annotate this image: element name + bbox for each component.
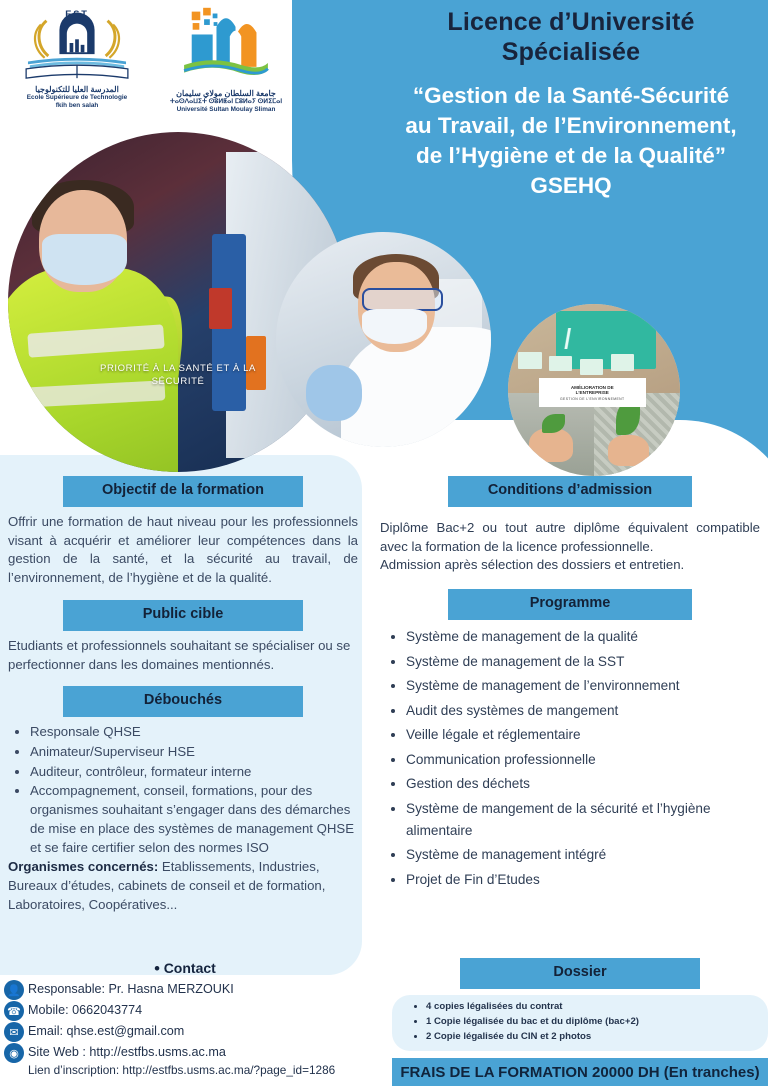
program-title-line-2: au Travail, de l’Environnement,: [378, 111, 764, 141]
list-item: Accompagnement, conseil, formations, pou…: [30, 782, 358, 857]
organismes-label: Organismes concernés:: [8, 859, 158, 874]
dossier-block: Dossier 4 copies légalisées du contrat 1…: [392, 958, 768, 1086]
contact-site-web[interactable]: Site Web : http://estfbs.usms.ac.ma: [28, 1043, 335, 1061]
section-heading-conditions: Conditions d’admission: [448, 476, 692, 507]
list-item: Audit des systèmes de mangement: [406, 700, 762, 722]
contact-block: • Contact 👤 Responsable: Pr. Hasna MERZO…: [0, 960, 370, 1079]
header-line-1: Licence d’Université: [378, 8, 764, 38]
env-card-subtitle: GESTION DE L’ENVIRONNEMENT: [560, 397, 624, 401]
list-item: Système de management de la qualité: [406, 626, 762, 648]
photo-environment: AMÉLIORATION DE L’ENTREPRISE GESTION DE …: [508, 304, 680, 476]
contact-registration-link[interactable]: Lien d’inscription: http://estfbs.usms.a…: [28, 1061, 335, 1078]
contact-row-responsable: 👤 Responsable: Pr. Hasna MERZOUKI: [0, 980, 370, 1000]
programme-list: Système de management de la qualité Syst…: [372, 626, 768, 891]
poster-header: Licence d’Université Spécialisée “Gestio…: [378, 8, 764, 201]
list-item: Responsale QHSE: [30, 723, 358, 742]
program-title-line-1: “Gestion de la Santé-Sécurité: [378, 81, 764, 111]
envelope-icon: ✉: [4, 1022, 24, 1042]
est-logo-arabic: المدرسة العليا للتكنولوجيا: [14, 85, 140, 94]
contact-row-email[interactable]: ✉ Email: qhse.est@gmail.com: [0, 1022, 370, 1042]
program-title-line-3: de l’Hygiène et de la Qualité”: [378, 141, 764, 171]
dossier-list: 4 copies légalisées du contrat 1 Copie l…: [398, 1000, 762, 1045]
section-heading-dossier: Dossier: [460, 958, 700, 989]
program-acronym: GSEHQ: [378, 171, 764, 201]
location-pin-icon: ◉: [4, 1043, 24, 1063]
person-icon: 👤: [4, 980, 24, 1000]
section-heading-programme: Programme: [448, 589, 692, 620]
list-item: 1 Copie légalisée du bac et du diplôme (…: [426, 1015, 758, 1030]
est-logo-icon: EST: [14, 6, 140, 80]
list-item: Veille légale et réglementaire: [406, 724, 762, 746]
env-card-title-2: L’ENTREPRISE: [576, 390, 609, 396]
header-line-2: Spécialisée: [378, 38, 764, 68]
dossier-list-container: 4 copies légalisées du contrat 1 Copie l…: [392, 995, 768, 1051]
list-item: Animateur/Superviseur HSE: [30, 743, 358, 762]
contact-email[interactable]: Email: qhse.est@gmail.com: [28, 1022, 184, 1040]
frais-banner: FRAIS DE LA FORMATION 20000 DH (En tranc…: [392, 1058, 768, 1086]
conditions-body-2: Admission après sélection des dossiers e…: [372, 556, 768, 575]
list-item: Communication professionnelle: [406, 749, 762, 771]
objectif-body: Offrir une formation de haut niveau pour…: [0, 513, 366, 588]
section-heading-debouches: Débouchés: [63, 686, 303, 717]
section-heading-public-cible: Public cible: [63, 600, 303, 631]
list-item: Système de management de la SST: [406, 651, 762, 673]
est-logo: EST المدرسة العليا للتكنولوجيا Ecole Sup…: [14, 6, 140, 116]
bullet-icon: •: [154, 960, 160, 977]
list-item: Projet de Fin d’Etudes: [406, 869, 762, 891]
usms-logo-arabic: جامعة السلطان مولاي سليمان: [152, 89, 300, 98]
usms-logo: جامعة السلطان مولاي سليمان ⵜⴰⵙⴷⴰⵡⵉⵜ ⵙⵓⵍⵟ…: [152, 4, 300, 116]
public-cible-body: Etudiants et professionnels souhaitant s…: [0, 637, 366, 674]
conditions-body-1: Diplôme Bac+2 ou tout autre diplôme équi…: [372, 519, 768, 556]
contact-mobile[interactable]: Mobile: 0662043774: [28, 1001, 142, 1019]
list-item: 4 copies légalisées du contrat: [426, 1000, 758, 1015]
contact-title-text: Contact: [164, 960, 216, 976]
organismes-concernes: Organismes concernés: Etablissements, In…: [0, 858, 366, 914]
list-item: Système de management de l’environnement: [406, 675, 762, 697]
photo-laboratory: [276, 232, 491, 447]
contact-responsable: Responsable: Pr. Hasna MERZOUKI: [28, 980, 234, 998]
usms-logo-icon: [152, 4, 300, 84]
right-column: Conditions d’admission Diplôme Bac+2 ou …: [372, 476, 768, 893]
list-item: Système de management intégré: [406, 844, 762, 866]
debouches-list: Responsale QHSE Animateur/Superviseur HS…: [0, 723, 366, 857]
phone-icon: ☎: [4, 1001, 24, 1021]
est-logo-line1: Ecole Supérieure de Technologie: [14, 94, 140, 102]
section-heading-objectif: Objectif de la formation: [63, 476, 303, 507]
list-item: Auditeur, contrôleur, formateur interne: [30, 763, 358, 782]
contact-row-mobile[interactable]: ☎ Mobile: 0662043774: [0, 1001, 370, 1021]
contact-row-web[interactable]: ◉ Site Web : http://estfbs.usms.ac.ma Li…: [0, 1043, 370, 1077]
est-logo-line2: fkih ben salah: [14, 102, 140, 110]
usms-logo-latin: Université Sultan Moulay Sliman: [152, 106, 300, 114]
list-item: Système de mangement de la sécurité et l…: [406, 798, 762, 842]
logo-group: EST المدرسة العليا للتكنولوجيا Ecole Sup…: [0, 0, 300, 120]
list-item: 2 Copie légalisée du CIN et 2 photos: [426, 1030, 758, 1045]
usms-logo-tifinagh: ⵜⴰⵙⴷⴰⵡⵉⵜ ⵙⵓⵍⵟⴰⵏ ⵎⵓⵍⴰⵢ ⵙⵍⵉⵎⴰⵏ: [152, 98, 300, 106]
left-column: Objectif de la formation Offrir une form…: [0, 476, 366, 915]
contact-heading: • Contact: [0, 960, 370, 978]
poster-root: EST المدرسة العليا للتكنولوجيا Ecole Sup…: [0, 0, 768, 1086]
list-item: Gestion des déchets: [406, 773, 762, 795]
